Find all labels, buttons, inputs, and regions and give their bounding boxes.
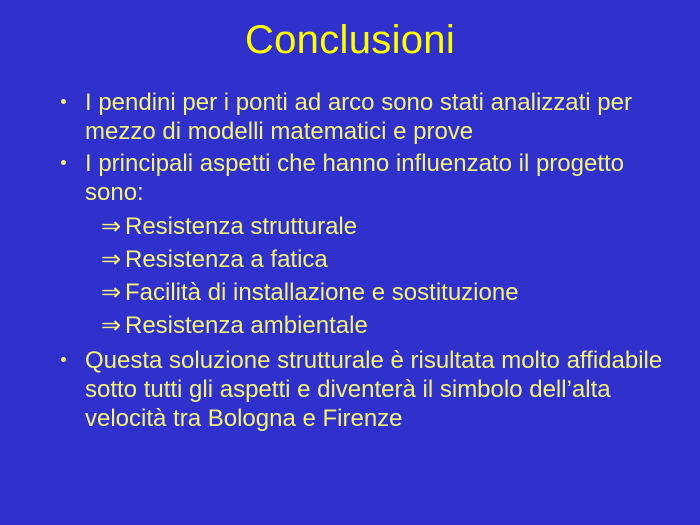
bullet-dot-icon bbox=[61, 99, 66, 104]
slide-body: I pendini per i ponti ad arco sono stati… bbox=[0, 88, 700, 435]
sub-list-item-label: Resistenza ambientale bbox=[125, 312, 368, 339]
bullet-dot-icon bbox=[61, 160, 66, 165]
sub-list-item: ⇒ Resistenza strutturale bbox=[0, 211, 700, 244]
sub-list-item: ⇒ Resistenza ambientale bbox=[0, 310, 700, 343]
sub-list-item: ⇒ Facilità di installazione e sostituzio… bbox=[0, 277, 700, 310]
sub-list: ⇒ Resistenza strutturale ⇒ Resistenza a … bbox=[0, 211, 700, 343]
bullet-dot-icon bbox=[61, 357, 66, 362]
list-item-label: I principali aspetti che hanno influenza… bbox=[85, 150, 624, 206]
sub-list-item-label: Resistenza strutturale bbox=[125, 213, 357, 240]
list-item-label: Questa soluzione strutturale è risultata… bbox=[85, 347, 662, 432]
list-item: I pendini per i ponti ad arco sono stati… bbox=[0, 88, 700, 146]
page-title: Conclusioni bbox=[0, 18, 700, 62]
presentation-slide: Conclusioni I pendini per i ponti ad arc… bbox=[0, 0, 700, 525]
sub-list-item-label: Facilità di installazione e sostituzione bbox=[125, 279, 519, 306]
double-arrow-icon: ⇒ bbox=[101, 310, 121, 341]
double-arrow-icon: ⇒ bbox=[101, 244, 121, 275]
double-arrow-icon: ⇒ bbox=[101, 277, 121, 308]
list-item-label: I pendini per i ponti ad arco sono stati… bbox=[85, 89, 632, 145]
double-arrow-icon: ⇒ bbox=[101, 211, 121, 242]
sub-list-item-label: Resistenza a fatica bbox=[125, 246, 328, 273]
list-item: Questa soluzione strutturale è risultata… bbox=[0, 346, 700, 433]
sub-list-item: ⇒ Resistenza a fatica bbox=[0, 244, 700, 277]
list-item: I principali aspetti che hanno influenza… bbox=[0, 149, 700, 207]
